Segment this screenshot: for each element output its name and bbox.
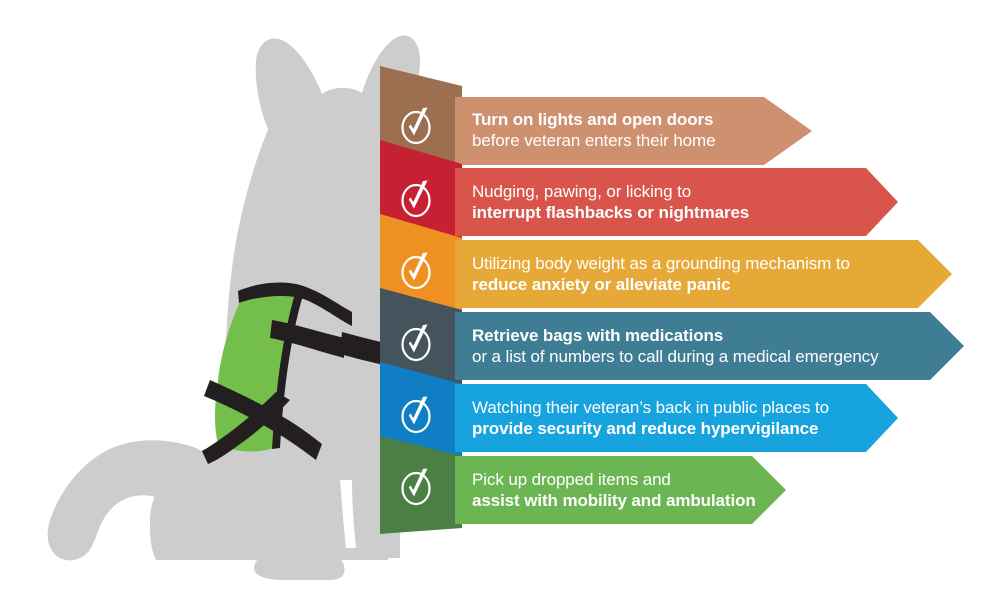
task-row-5-line1: Watching their veteran’s back in public … (472, 398, 829, 419)
task-row-4-line1: Retrieve bags with medications (472, 326, 878, 347)
task-row-6-line1: Pick up dropped items and (472, 470, 756, 491)
task-row-1-text: Turn on lights and open doors before vet… (472, 110, 715, 152)
task-row-5-text: Watching their veteran’s back in public … (472, 398, 829, 440)
task-row-2-line1: Nudging, pawing, or licking to (472, 182, 749, 203)
task-row-2-line2: interrupt flashbacks or nightmares (472, 203, 749, 224)
task-row-4-line2: or a list of numbers to call during a me… (472, 347, 878, 368)
infographic-canvas: Turn on lights and open doors before vet… (0, 0, 1000, 600)
task-row-1-line2: before veteran enters their home (472, 131, 715, 152)
task-row-6-text: Pick up dropped items and assist with mo… (472, 470, 756, 512)
task-row-1-line1: Turn on lights and open doors (472, 110, 715, 131)
task-row-4-text: Retrieve bags with medications or a list… (472, 326, 878, 368)
task-row-3-text: Utilizing body weight as a grounding mec… (472, 254, 850, 296)
task-row-6-line2: assist with mobility and ambulation (472, 491, 756, 512)
task-row-3-line2: reduce anxiety or alleviate panic (472, 275, 850, 296)
task-row-5-line2: provide security and reduce hypervigilan… (472, 419, 829, 440)
task-row-3-line1: Utilizing body weight as a grounding mec… (472, 254, 850, 275)
task-row-2-text: Nudging, pawing, or licking to interrupt… (472, 182, 749, 224)
